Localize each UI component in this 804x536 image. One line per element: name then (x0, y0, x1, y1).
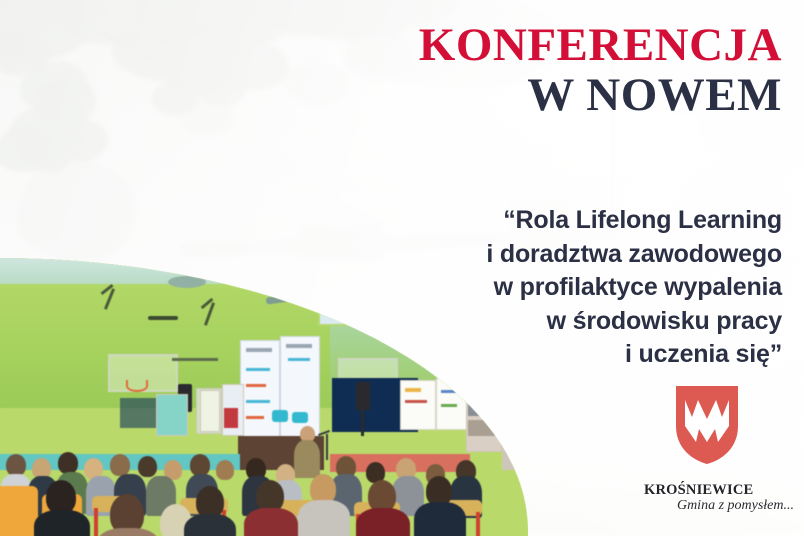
quote-line-3: w profilaktyce wypalenia (312, 271, 782, 305)
quote-line-5: i uczenia się” (312, 338, 782, 372)
quote-line-2: i doradztwa zawodowego (312, 238, 782, 272)
krosniewice-logo: KROŚNIEWICE Gmina z pomysłem... (644, 386, 794, 518)
poster-subtitle-quote: “Rola Lifelong Learning i doradztwa zawo… (312, 204, 782, 372)
conference-poster: KONFERENCJA W NOWEM “Rola Lifelong Learn… (0, 0, 804, 536)
quote-line-4: w środowisku pracy (312, 305, 782, 339)
krosniewice-coat-of-arms-icon (676, 386, 738, 464)
logo-tagline: Gmina z pomysłem... (644, 498, 798, 514)
title-line-w-nowem: W NOWEM (222, 69, 782, 122)
quote-line-1: “Rola Lifelong Learning (312, 204, 782, 238)
poster-title: KONFERENCJA W NOWEM (222, 22, 782, 122)
title-line-konferencja: KONFERENCJA (222, 22, 782, 69)
logo-municipality-name: KROŚNIEWICE (644, 482, 794, 499)
